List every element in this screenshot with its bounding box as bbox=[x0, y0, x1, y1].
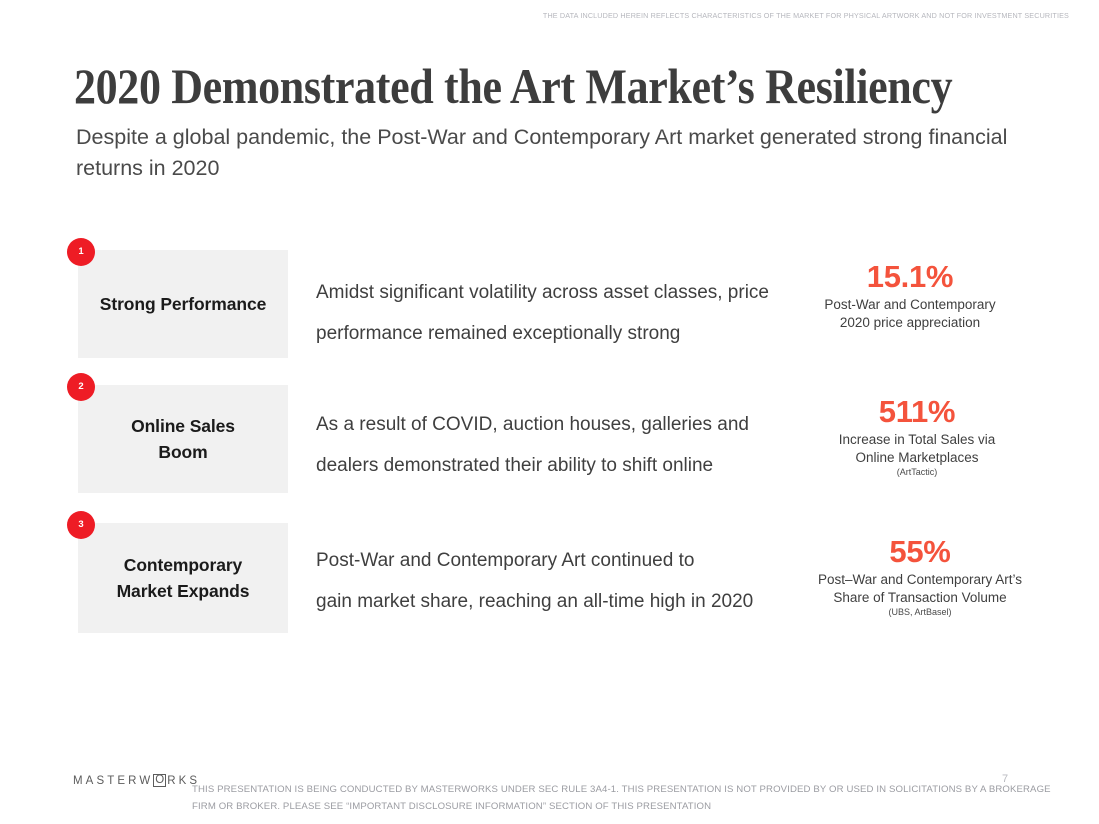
step-badge-3: 3 bbox=[67, 511, 95, 539]
row-body-3: Post-War and Contemporary Art continued … bbox=[316, 540, 753, 622]
stat-value-2: 511% bbox=[812, 394, 1022, 430]
row-label-box-1: Strong Performance bbox=[78, 250, 288, 358]
row-label-3: Contemporary Market Expands bbox=[117, 552, 250, 604]
row-body-2: As a result of COVID, auction houses, ga… bbox=[316, 404, 749, 486]
footer-disclaimer: THIS PRESENTATION IS BEING CONDUCTED BY … bbox=[192, 782, 1052, 815]
stat-caption-2: Increase in Total Sales via Online Marke… bbox=[812, 431, 1022, 466]
step-badge-1: 1 bbox=[67, 238, 95, 266]
stat-value-1: 15.1% bbox=[812, 259, 1008, 295]
stat-value-3: 55% bbox=[812, 534, 1028, 570]
stat-caption-3: Post–War and Contemporary Art’s Share of… bbox=[812, 571, 1028, 606]
row-label-box-3: Contemporary Market Expands bbox=[78, 523, 288, 633]
logo-boxed-o: O bbox=[153, 774, 166, 787]
stat-caption-1: Post-War and Contemporary 2020 price app… bbox=[812, 296, 1008, 331]
stat-source-3: (UBS, ArtBasel) bbox=[812, 606, 1028, 618]
step-badge-2: 2 bbox=[67, 373, 95, 401]
row-stat-1: 15.1% Post-War and Contemporary 2020 pri… bbox=[812, 259, 1008, 331]
logo-text-before: MASTERW bbox=[73, 775, 153, 787]
page-number: 7 bbox=[1002, 773, 1008, 785]
row-label-box-2: Online Sales Boom bbox=[78, 385, 288, 493]
page-title: 2020 Demonstrated the Art Market’s Resil… bbox=[74, 57, 952, 115]
stat-source-2: (ArtTactic) bbox=[812, 466, 1022, 478]
page-subtitle: Despite a global pandemic, the Post-War … bbox=[76, 122, 1016, 184]
row-body-1: Amidst significant volatility across ass… bbox=[316, 272, 769, 354]
row-stat-2: 511% Increase in Total Sales via Online … bbox=[812, 394, 1022, 478]
masterworks-logo: MASTERWORKS bbox=[73, 774, 200, 787]
row-label-1: Strong Performance bbox=[100, 291, 266, 317]
row-label-2: Online Sales Boom bbox=[131, 413, 235, 465]
top-disclaimer: THE DATA INCLUDED HEREIN REFLECTS CHARAC… bbox=[0, 11, 1069, 20]
row-stat-3: 55% Post–War and Contemporary Art’s Shar… bbox=[812, 534, 1028, 618]
